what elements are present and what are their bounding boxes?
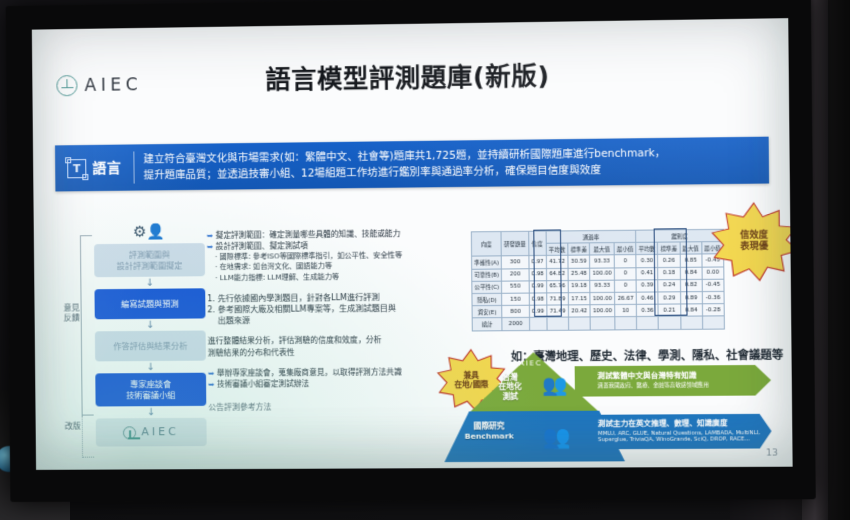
cell-discr-sd: 0.18	[658, 267, 680, 280]
cell-discr-sd: 0.24	[658, 279, 680, 292]
cell-empty	[680, 316, 702, 329]
flow-step-analysis[interactable]: 作答評估與結果分析	[95, 330, 206, 361]
cell-empty	[702, 316, 724, 329]
pyramid-aiec-label: AIEC	[519, 359, 542, 367]
cell-reliability: 0.98	[529, 268, 547, 281]
table-total-row: 總計 2000	[472, 316, 724, 330]
banner-tag: T 語言	[55, 158, 131, 179]
cell-count: 800	[502, 305, 529, 318]
language-banner: T 語言 建立符合臺灣文化與市場需求(如：繁體中文、社會等)題庫共1,725題，…	[55, 137, 769, 192]
green-callout-title: 測試繁體中文與台灣特有知識	[597, 371, 771, 381]
language-frame-icon: T	[67, 159, 86, 178]
cell-pass-sd: 20.42	[568, 305, 590, 318]
cell-pass-mean: 65.76	[546, 280, 568, 293]
feedback-bracket	[80, 235, 94, 415]
cell-empty	[568, 317, 590, 330]
process-flow-chart: ⚙👤 評測範圍與 設計評測範圍擬定 ↓ 編寫試題與預測 ↓ 作答評估與結果分析 …	[94, 224, 207, 447]
th-discrimination: 鑑別度	[636, 229, 724, 242]
cell-pass-sd: 17.15	[568, 292, 590, 305]
cell-dimension: 資安(E)	[472, 306, 502, 319]
cell-pass-min: 0	[614, 280, 636, 293]
green-callout-sub: 涵蓋我國政府、醫療、金融等高敏感領域應用	[597, 382, 771, 390]
flow-arrow-1: ↓	[94, 276, 205, 289]
display-screen-bezel: AIEC 語言模型評測題庫(新版) T 語言 建立符合臺灣文化與市場需求(如：繁…	[6, 0, 816, 502]
flow-step-publish-label: AIEC	[141, 425, 179, 439]
arrow-bullet-icon: ➥	[207, 231, 214, 240]
photo-scene: AIEC 語言模型評測題庫(新版) T 語言 建立符合臺灣文化與市場需求(如：繁…	[0, 0, 850, 520]
cell-pass-mean: 41.72	[546, 256, 568, 269]
table-body: 準確性(A) 300 0.97 41.72 30.59 93.33 0 0.30…	[472, 254, 725, 330]
cell-pass-max: 93.33	[590, 255, 615, 268]
flow-step-scope[interactable]: 評測範圍與 設計評測範圍擬定	[94, 243, 205, 277]
cell-count: 200	[502, 268, 529, 281]
cell-reliability: 0.97	[529, 256, 547, 269]
cell-discr-min: 0.00	[702, 267, 724, 280]
cell-dimension: 隱私(D)	[472, 293, 502, 306]
banner-tag-label: 語言	[92, 158, 121, 178]
th-discr-max: 最大值	[680, 242, 702, 255]
cell-pass-max: 100.00	[590, 305, 615, 318]
cell-discr-sd: 0.26	[658, 255, 680, 268]
pyramid-blue-callout: 測試主力在英文推理、數理、知識廣度 MMLU, ARC, GLUE, Natur…	[575, 414, 772, 450]
blue-callout-title: 測試主力在英文推理、數理、知識廣度	[598, 419, 772, 429]
th-discr-mean: 平均數	[636, 242, 658, 255]
flow-step-expert-panel[interactable]: 專家座談會 技術審議小組	[95, 373, 206, 407]
flow-step-publish[interactable]: AIEC	[96, 418, 207, 447]
cell-pass-max: 100.00	[590, 292, 615, 305]
flow-arrow-3: ↓	[95, 361, 206, 374]
flow-step-write-items-label: 編寫試題與預測	[121, 298, 179, 309]
desc-block-publish: 公告評測參考方法	[208, 401, 464, 414]
cell-discr-max: 0.84	[680, 267, 702, 280]
desc-publish-line: 公告評測參考方法	[208, 401, 464, 414]
statistics-table-wrapper: 向度 研發題量 信度 通過率 鑑別度 平均數 標準差 最大值 最小值	[471, 229, 725, 331]
presentation-slide: AIEC 語言模型評測題庫(新版) T 語言 建立符合臺灣文化與市場需求(如：繁…	[32, 18, 793, 470]
aiec-logo-icon-pyramid	[507, 358, 516, 367]
pyramid-green-callout: 測試繁體中文與台灣特有知識 涵蓋我國政府、醫療、金融等高敏感領域應用	[575, 365, 772, 397]
cell-empty	[547, 317, 569, 330]
arrow-bullet-icon: ➥	[208, 380, 215, 389]
cell-empty	[637, 317, 659, 330]
cell-dimension: 公平性(C)	[472, 281, 502, 294]
cell-discr-min: -0.28	[702, 304, 724, 317]
banner-divider	[133, 151, 134, 183]
page-title: 語言模型評測題庫(新版)	[32, 53, 789, 100]
reliability-badge-line2: 表現優	[740, 242, 768, 253]
cell-discr-mean: 0.46	[636, 292, 658, 305]
flow-arrow-2: ↓	[95, 318, 206, 331]
cell-reliability: 0.99	[529, 305, 547, 317]
cell-discr-max: 0.84	[680, 304, 702, 317]
statistics-table: 向度 研發題量 信度 通過率 鑑別度 平均數 標準差 最大值 最小值	[471, 229, 725, 331]
banner-body: 建立符合臺灣文化與市場需求(如：繁體中文、社會等)題庫共1,725題，並持續研析…	[143, 145, 674, 184]
desc-num-line: 出題來源	[207, 313, 463, 326]
pyramid-aiec-logo: AIEC	[507, 358, 543, 367]
page-number: 13	[766, 448, 778, 458]
cell-dimension: 準確性(A)	[472, 256, 502, 269]
cell-pass-mean: 71.89	[546, 293, 568, 306]
desc-sub-line: · LLM能力指標: LLM理解、生成能力等	[207, 270, 463, 283]
cell-pass-min: 0	[614, 267, 636, 280]
cell-discr-sd: 0.21	[658, 304, 680, 317]
people-group-icon-green: 👥	[542, 372, 568, 396]
people-group-icon-blue: 👥	[542, 425, 570, 450]
cell-discr-sd: 0.29	[658, 292, 680, 305]
cell-pass-mean: 71.49	[547, 305, 569, 318]
cell-total-label: 總計	[472, 318, 502, 331]
blue-callout-sub-2: Superglue, TriviaQA, WinoGrande, SciQ, D…	[598, 437, 772, 445]
th-count: 研發題量	[501, 231, 528, 256]
desc-block-items: 1. 先行依據國內學測題目，針對各LLM進行評測 2. 參考國際大廠及相關LLM…	[207, 291, 463, 326]
cell-discr-mean: 0.41	[636, 267, 658, 280]
desc-block-scope: ➥ 擬定評測範圍：確定測量哪些具體的知識、技能或能力 ➥ 設計評測範圍、擬定測試…	[207, 227, 463, 283]
flow-step-expert-panel-line1: 專家座談會	[130, 379, 171, 390]
cell-pass-sd: 25.48	[568, 268, 590, 281]
slide-content: AIEC 語言模型評測題庫(新版) T 語言 建立符合臺灣文化與市場需求(如：繁…	[32, 18, 793, 470]
cell-pass-sd: 19.18	[568, 280, 590, 293]
flow-step-scope-line1: 評測範圍與	[129, 250, 170, 261]
aiec-logo-icon-small	[123, 426, 136, 439]
arrow-bullet-icon: ➥	[208, 369, 215, 378]
cell-discr-max: 0.89	[680, 292, 702, 305]
cell-pass-min: 26.67	[615, 292, 637, 305]
cell-discr-min: -0.45	[702, 279, 724, 292]
cell-count: 550	[502, 281, 529, 294]
desc-para-line: 測驗結果的分布和代表性	[208, 345, 464, 359]
th-pass-sd: 標準差	[568, 243, 590, 256]
flow-step-expert-panel-line2: 技術審議小組	[126, 389, 176, 400]
desc-line: ➥ 技術審議小組審定測試辦法	[208, 377, 464, 390]
cell-pass-sd: 30.59	[568, 255, 590, 268]
revision-bracket	[82, 416, 94, 458]
reliability-badge-line1: 信效度	[740, 231, 768, 242]
person-gear-icon: ⚙👤	[94, 224, 205, 240]
th-pass-min: 最小值	[614, 243, 636, 256]
cell-discr-min: -0.36	[702, 291, 724, 304]
pyramid-top-label: 台灣在地化測試	[487, 373, 534, 402]
cell-discr-mean: 0.36	[637, 304, 659, 317]
cell-reliability: 0.98	[529, 293, 547, 305]
arrow-bullet-icon: ➥	[207, 242, 214, 251]
cell-total-count: 2000	[502, 318, 529, 331]
cell-pass-max: 93.33	[590, 280, 615, 293]
th-pass-max: 最大值	[590, 243, 615, 256]
th-reliability: 信度	[528, 231, 546, 256]
cell-pass-max: 100.00	[590, 268, 615, 281]
th-pass-mean: 平均數	[546, 243, 568, 256]
cell-empty	[590, 317, 615, 330]
table-head: 向度 研發題量 信度 通過率 鑑別度 平均數 標準差 最大值 最小值	[471, 229, 723, 256]
cell-empty	[529, 318, 547, 330]
th-pass-rate: 通過率	[546, 230, 636, 243]
cell-discr-max: 0.85	[680, 254, 702, 267]
th-dimension: 向度	[471, 232, 501, 257]
pyramid-diagram: AIEC 台灣在地化測試 國際研究Benchmark 👥 👥 測試繁體中文與台灣…	[443, 351, 771, 467]
desc-block-analysis: 進行整體結果分析，評估測驗的信度和效度，分析 測驗結果的分布和代表性	[208, 333, 464, 358]
pyramid-bottom-label: 國際研究Benchmark	[458, 421, 520, 441]
cell-discr-mean: 0.39	[636, 280, 658, 293]
cell-discr-mean: 0.30	[636, 255, 658, 268]
cell-dimension: 可靠性(B)	[472, 269, 502, 282]
flow-step-write-items[interactable]: 編寫試題與預測	[94, 288, 205, 319]
flow-step-scope-line2: 設計評測範圍擬定	[117, 260, 183, 271]
desc-block-expert: ➥ 舉辦專家座談會，蒐集廠商意見，以取得評測方法共識 ➥ 技術審議小組審定測試辦…	[208, 366, 464, 390]
cell-pass-mean: 64.82	[546, 268, 568, 281]
cell-reliability: 0.99	[529, 281, 547, 293]
cell-pass-min: 10	[615, 304, 637, 317]
th-discr-sd: 標準差	[658, 242, 680, 255]
cell-discr-max: 0.82	[680, 279, 702, 292]
flow-descriptions: ➥ 擬定評測範圍：確定測量哪些具體的知識、技能或能力 ➥ 設計評測範圍、擬定測試…	[207, 227, 465, 420]
cell-count: 300	[501, 256, 528, 269]
cell-count: 150	[502, 293, 529, 306]
flow-step-analysis-label: 作答評估與結果分析	[113, 341, 187, 352]
cell-pass-min: 0	[614, 255, 636, 268]
cell-empty	[615, 317, 637, 330]
flow-arrow-4: ↓	[96, 406, 207, 419]
cell-empty	[658, 316, 680, 329]
